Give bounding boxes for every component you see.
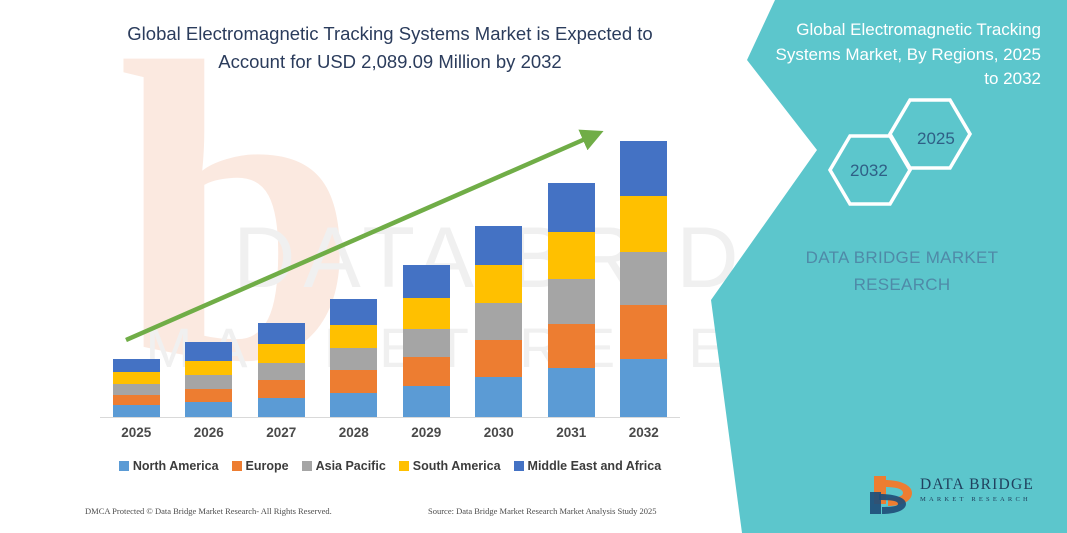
legend-item-north-america[interactable]: North America — [119, 459, 219, 473]
logo-text-block: DATA BRIDGE MARKET RESEARCH — [920, 476, 1040, 503]
x-axis-label-2026: 2026 — [185, 425, 232, 440]
bar-segment — [113, 359, 160, 373]
legend-swatch-icon — [399, 461, 409, 471]
legend-swatch-icon — [302, 461, 312, 471]
bar-series-container — [100, 100, 680, 417]
bar-segment — [185, 342, 232, 360]
x-axis-label-2032: 2032 — [620, 425, 667, 440]
bar-segment — [185, 402, 232, 417]
logo-main-text: DATA BRIDGE — [920, 476, 1040, 494]
bar-column-2026 — [185, 100, 232, 417]
bar-segment — [113, 405, 160, 417]
bar-segment — [403, 298, 450, 328]
bar-segment — [330, 393, 377, 417]
bar-segment — [330, 370, 377, 392]
panel-brand-name: DATA BRIDGE MARKET RESEARCH — [782, 244, 1022, 298]
x-axis-label-2030: 2030 — [475, 425, 522, 440]
infographic-page: b DATA BRIDGE MARKET RESEARCH Global Ele… — [0, 0, 1067, 533]
chart-title: Global Electromagnetic Tracking Systems … — [110, 20, 670, 76]
hexagon-2032-label: 2032 — [850, 161, 888, 181]
legend-item-middle-east-and-africa[interactable]: Middle East and Africa — [514, 459, 662, 473]
bar-segment — [113, 395, 160, 406]
bar-segment — [403, 329, 450, 357]
bar-column-2030 — [475, 100, 522, 417]
footer-source: Source: Data Bridge Market Research Mark… — [428, 506, 657, 516]
bar-segment — [185, 375, 232, 389]
x-axis-labels: 20252026202720282029203020312032 — [100, 425, 680, 440]
legend-label: Middle East and Africa — [528, 459, 662, 473]
bar-segment — [403, 357, 450, 386]
bar-segment — [620, 141, 667, 196]
hexagon-badges: 2025 2032 — [822, 96, 1002, 208]
legend-label: South America — [413, 459, 501, 473]
x-axis-label-2025: 2025 — [113, 425, 160, 440]
bar-segment — [403, 386, 450, 417]
bar-segment — [548, 232, 595, 279]
logo-sub-text: MARKET RESEARCH — [920, 496, 1040, 503]
panel-brand-line-1: DATA BRIDGE MARKET — [806, 248, 999, 267]
legend-swatch-icon — [119, 461, 129, 471]
bar-segment — [403, 265, 450, 298]
bar-segment — [620, 196, 667, 251]
bar-segment — [548, 368, 595, 417]
bar-segment — [258, 363, 305, 380]
bar-column-2031 — [548, 100, 595, 417]
footer-copyright: DMCA Protected © Data Bridge Market Rese… — [85, 506, 332, 516]
hexagon-2025-label: 2025 — [917, 129, 955, 149]
bar-column-2029 — [403, 100, 450, 417]
legend-label: Europe — [246, 459, 289, 473]
bar-segment — [475, 226, 522, 266]
x-axis-label-2031: 2031 — [548, 425, 595, 440]
bar-column-2027 — [258, 100, 305, 417]
bar-segment — [258, 323, 305, 344]
x-axis-line — [100, 417, 680, 418]
x-axis-label-2028: 2028 — [330, 425, 377, 440]
bar-segment — [620, 305, 667, 358]
legend-item-south-america[interactable]: South America — [399, 459, 501, 473]
bar-segment — [185, 389, 232, 403]
bar-column-2028 — [330, 100, 377, 417]
data-bridge-logo: DATA BRIDGE MARKET RESEARCH — [868, 474, 1040, 518]
bar-segment — [330, 325, 377, 348]
bar-segment — [548, 183, 595, 233]
chart-plot-area — [100, 100, 680, 418]
bar-segment — [330, 299, 377, 324]
bar-segment — [185, 361, 232, 376]
legend-label: Asia Pacific — [316, 459, 386, 473]
legend-swatch-icon — [514, 461, 524, 471]
bar-segment — [475, 377, 522, 417]
hexagon-outlines — [822, 96, 1002, 208]
bar-segment — [330, 348, 377, 370]
bar-column-2032 — [620, 100, 667, 417]
bar-segment — [475, 303, 522, 340]
bar-column-2025 — [113, 100, 160, 417]
bar-segment — [258, 380, 305, 397]
legend-swatch-icon — [232, 461, 242, 471]
bar-segment — [548, 324, 595, 369]
logo-b-mark-icon — [868, 474, 916, 516]
bar-segment — [475, 265, 522, 303]
x-axis-label-2029: 2029 — [403, 425, 450, 440]
bar-segment — [113, 384, 160, 395]
panel-brand-line-2: RESEARCH — [854, 275, 951, 294]
bar-segment — [258, 398, 305, 417]
bar-segment — [548, 279, 595, 324]
chart-legend: North AmericaEuropeAsia PacificSouth Ame… — [100, 459, 680, 473]
legend-label: North America — [133, 459, 219, 473]
bar-segment — [258, 344, 305, 362]
bar-segment — [475, 340, 522, 377]
x-axis-label-2027: 2027 — [258, 425, 305, 440]
legend-item-europe[interactable]: Europe — [232, 459, 289, 473]
legend-item-asia-pacific[interactable]: Asia Pacific — [302, 459, 386, 473]
panel-title: Global Electromagnetic Tracking Systems … — [769, 18, 1041, 92]
bar-segment — [620, 252, 667, 305]
bar-segment — [620, 359, 667, 417]
bar-segment — [113, 372, 160, 384]
